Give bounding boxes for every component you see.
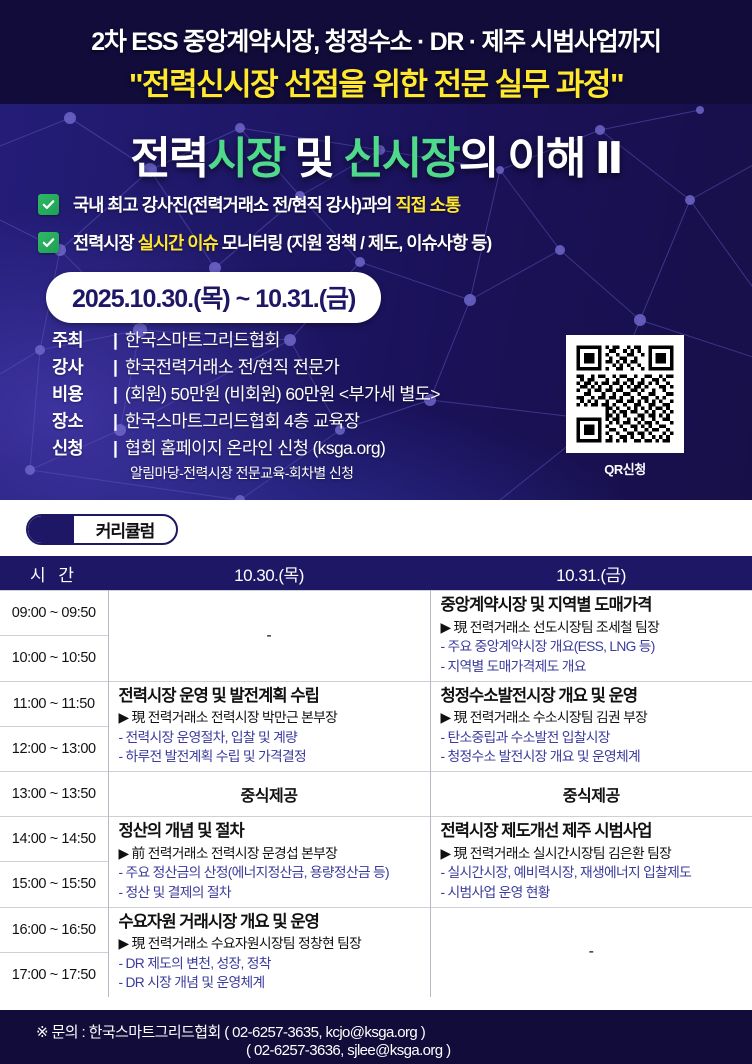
kicker-text: 2차 ESS 중앙계약시장, 청정수소 · DR · 제주 시범사업까지 xyxy=(0,22,752,58)
info-value: 협회 홈페이지 온라인 신청 (ksga.org) xyxy=(125,435,385,460)
feature-bullet-list: 국내 최고 강사진(전력거래소 전/현직 강사)과의 직접 소통 전력시장 실시… xyxy=(38,192,738,268)
footer-line-2: ( 02-6257-3636, sjlee@ksga.org ) xyxy=(246,1042,450,1059)
curriculum-badge-fill xyxy=(28,516,74,543)
table-row: 09:00 ~ 09:50 - 중앙계약시장 및 지역별 도매가격 ▶ 現 전력… xyxy=(0,591,752,636)
info-row-instructor: 강사|한국전력거래소 전/현직 전문가 xyxy=(52,354,440,379)
time-cell: 15:00 ~ 15:50 xyxy=(0,862,108,907)
info-label: 주최 xyxy=(52,327,108,352)
footer-line-1: ※ 문의 : 한국스마트그리드협회 ( 02-6257-3635, kcjo@k… xyxy=(36,1021,425,1042)
session-bullet: - 탄소중립과 수소발전 입찰시장 xyxy=(441,728,752,748)
page-title-part-3: 및 xyxy=(284,134,343,183)
bullet-2-post: 모니터링 (지원 정책 / 제도, 이슈사항 등) xyxy=(218,233,492,253)
feature-bullet-item: 전력시장 실시간 이슈 모니터링 (지원 정책 / 제도, 이슈사항 등) xyxy=(38,230,738,255)
column-header-time: 시 간 xyxy=(0,556,108,591)
page-title-part-1: 전력 xyxy=(130,134,207,183)
qr-code-icon[interactable] xyxy=(566,335,684,453)
table-row: 11:00 ~ 11:50 전력시장 운영 및 발전계획 수립 ▶ 現 전력거래… xyxy=(0,681,752,726)
info-value: 한국전력거래소 전/현직 전문가 xyxy=(125,354,339,379)
curriculum-badge-label: 커리큘럼 xyxy=(74,516,176,543)
session-bullet: - 정산 및 결제의 절차 xyxy=(119,883,430,903)
page-title: 전력시장 및 신시장의 이해 Ⅱ xyxy=(0,122,752,186)
day2-morning-cell: 중앙계약시장 및 지역별 도매가격 ▶ 現 전력거래소 선도시장팀 조세철 팀장… xyxy=(430,591,752,682)
info-row-host: 주최|한국스마트그리드협회 xyxy=(52,327,440,352)
info-label: 장소 xyxy=(52,408,108,433)
session-title: 청정수소발전시장 개요 및 운영 xyxy=(441,686,752,708)
info-label: 비용 xyxy=(52,381,108,406)
column-header-day1: 10.30.(목) xyxy=(108,556,430,591)
session-bullet: - DR 시장 개념 및 운영체계 xyxy=(119,973,430,993)
qr-apply-block[interactable]: QR신청 xyxy=(566,335,684,478)
info-value: 한국스마트그리드협회 4층 교육장 xyxy=(125,408,360,433)
page-title-part-4: 신시장 xyxy=(343,134,458,183)
session-instructor: ▶ 現 전력거래소 실시간시장팀 김은환 팀장 xyxy=(441,844,752,864)
day1-late-cell: 수요자원 거래시장 개요 및 운영 ▶ 現 전력거래소 수요자원시장팀 정창현 … xyxy=(108,907,430,997)
time-cell: 11:00 ~ 11:50 xyxy=(0,681,108,726)
feature-bullet-text: 전력시장 실시간 이슈 모니터링 (지원 정책 / 제도, 이슈사항 등) xyxy=(73,230,491,255)
bullet-1-highlight: 직접 소통 xyxy=(395,195,460,215)
info-value: (회원) 50만원 (비회원) 60만원 <부가세 별도> xyxy=(125,381,440,406)
table-header-row: 시 간 10.30.(목) 10.31.(금) xyxy=(0,556,752,591)
column-header-day2: 10.31.(금) xyxy=(430,556,752,591)
day1-late-morning-cell: 전력시장 운영 및 발전계획 수립 ▶ 現 전력거래소 전력시장 박만근 본부장… xyxy=(108,681,430,772)
session-instructor: ▶ 現 전력거래소 수소시장팀 김권 부장 xyxy=(441,708,752,728)
info-separator: | xyxy=(113,411,118,432)
table-row: 16:00 ~ 16:50 수요자원 거래시장 개요 및 운영 ▶ 現 전력거래… xyxy=(0,907,752,952)
session-instructor: ▶ 前 전력거래소 전력시장 문경섭 본부장 xyxy=(119,844,430,864)
session-title: 중앙계약시장 및 지역별 도매가격 xyxy=(441,595,752,617)
info-separator: | xyxy=(113,330,118,351)
feature-bullet-item: 국내 최고 강사진(전력거래소 전/현직 강사)과의 직접 소통 xyxy=(38,192,738,217)
day2-lunch-cell: 중식제공 xyxy=(430,772,752,817)
info-label: 신청 xyxy=(52,435,108,460)
info-row-apply: 신청|협회 홈페이지 온라인 신청 (ksga.org) xyxy=(52,435,440,460)
event-date-badge: 2025.10.30.(목) ~ 10.31.(금) xyxy=(46,272,381,323)
session-bullet: - 주요 중앙계약시장 개요(ESS, LNG 등) xyxy=(441,637,752,657)
day2-late-morning-cell: 청정수소발전시장 개요 및 운영 ▶ 現 전력거래소 수소시장팀 김권 부장 -… xyxy=(430,681,752,772)
poster: 2차 ESS 중앙계약시장, 청정수소 · DR · 제주 시범사업까지 "전력… xyxy=(0,0,752,1064)
info-row-venue: 장소|한국스마트그리드협회 4층 교육장 xyxy=(52,408,440,433)
bullet-2-highlight: 실시간 이슈 xyxy=(138,233,218,253)
info-row-fee: 비용|(회원) 50만원 (비회원) 60만원 <부가세 별도> xyxy=(52,381,440,406)
session-instructor: ▶ 現 전력거래소 수요자원시장팀 정창현 팀장 xyxy=(119,934,430,954)
time-cell: 09:00 ~ 09:50 xyxy=(0,591,108,636)
session-bullet: - 실시간시장, 예비력시장, 재생에너지 입찰제도 xyxy=(441,863,752,883)
session-bullet: - 지역별 도매가격제도 개요 xyxy=(441,657,752,677)
session-bullet: - 주요 정산금의 산정(에너지정산금, 용량정산금 등) xyxy=(119,863,430,883)
session-instructor: ▶ 現 전력거래소 전력시장 박만근 본부장 xyxy=(119,708,430,728)
day1-afternoon-cell: 정산의 개념 및 절차 ▶ 前 전력거래소 전력시장 문경섭 본부장 - 주요 … xyxy=(108,817,430,908)
page-title-part-5: 의 이해 Ⅱ xyxy=(459,134,622,183)
feature-bullet-text: 국내 최고 강사진(전력거래소 전/현직 강사)과의 직접 소통 xyxy=(73,192,460,217)
session-title: 전력시장 제도개선 제주 시범사업 xyxy=(441,821,752,843)
bullet-2-pre: 전력시장 xyxy=(73,233,138,253)
time-cell: 16:00 ~ 16:50 xyxy=(0,907,108,952)
session-title: 수요자원 거래시장 개요 및 운영 xyxy=(119,912,430,934)
session-bullet: - DR 제도의 변천, 성장, 정착 xyxy=(119,954,430,974)
time-cell: 10:00 ~ 10:50 xyxy=(0,636,108,681)
session-title: 전력시장 운영 및 발전계획 수립 xyxy=(119,686,430,708)
check-icon xyxy=(38,194,59,215)
qr-caption: QR신청 xyxy=(566,459,684,478)
table-row: 13:00 ~ 13:50 중식제공 중식제공 xyxy=(0,772,752,817)
day1-morning-cell: - xyxy=(108,591,430,682)
event-info-list: 주최|한국스마트그리드협회 강사|한국전력거래소 전/현직 전문가 비용|(회원… xyxy=(52,327,440,483)
day2-afternoon-cell: 전력시장 제도개선 제주 시범사업 ▶ 現 전력거래소 실시간시장팀 김은환 팀… xyxy=(430,817,752,908)
day2-late-cell: - xyxy=(430,907,752,997)
page-title-part-2: 시장 xyxy=(207,134,284,183)
session-bullet: - 시범사업 운영 현황 xyxy=(441,883,752,903)
info-separator: | xyxy=(113,384,118,405)
info-apply-path: 알림마당-전력시장 전문교육-회차별 신청 xyxy=(130,463,440,483)
curriculum-badge: 커리큘럼 xyxy=(26,514,178,545)
check-icon xyxy=(38,232,59,253)
hero-section: 2차 ESS 중앙계약시장, 청정수소 · DR · 제주 시범사업까지 "전력… xyxy=(0,0,752,500)
session-bullet: - 하루전 발전계획 수립 및 가격결정 xyxy=(119,747,430,767)
info-value: 한국스마트그리드협회 xyxy=(125,327,280,352)
session-bullet: - 전력시장 운영절차, 입찰 및 계량 xyxy=(119,728,430,748)
table-row: 14:00 ~ 14:50 정산의 개념 및 절차 ▶ 前 전력거래소 전력시장… xyxy=(0,817,752,862)
info-separator: | xyxy=(113,438,118,459)
time-cell: 13:00 ~ 13:50 xyxy=(0,772,108,817)
time-cell: 14:00 ~ 14:50 xyxy=(0,817,108,862)
session-title: 정산의 개념 및 절차 xyxy=(119,821,430,843)
session-bullet: - 청정수소 발전시장 개요 및 운영체계 xyxy=(441,747,752,767)
headline-text: "전력신시장 선점을 위한 전문 실무 과정" xyxy=(0,59,752,104)
time-cell: 12:00 ~ 13:00 xyxy=(0,726,108,771)
info-label: 강사 xyxy=(52,354,108,379)
day1-lunch-cell: 중식제공 xyxy=(108,772,430,817)
info-separator: | xyxy=(113,357,118,378)
bullet-1-pre: 국내 최고 강사진(전력거래소 전/현직 강사)과의 xyxy=(73,195,395,215)
schedule-table: 시 간 10.30.(목) 10.31.(금) 09:00 ~ 09:50 - … xyxy=(0,556,752,997)
curriculum-section: 커리큘럼 시 간 10.30.(목) 10.31.(금) 09:00 ~ 09:… xyxy=(0,500,752,1010)
time-cell: 17:00 ~ 17:50 xyxy=(0,952,108,997)
session-instructor: ▶ 現 전력거래소 선도시장팀 조세철 팀장 xyxy=(441,618,752,638)
footer-contact: ※ 문의 : 한국스마트그리드협회 ( 02-6257-3635, kcjo@k… xyxy=(0,1010,752,1064)
